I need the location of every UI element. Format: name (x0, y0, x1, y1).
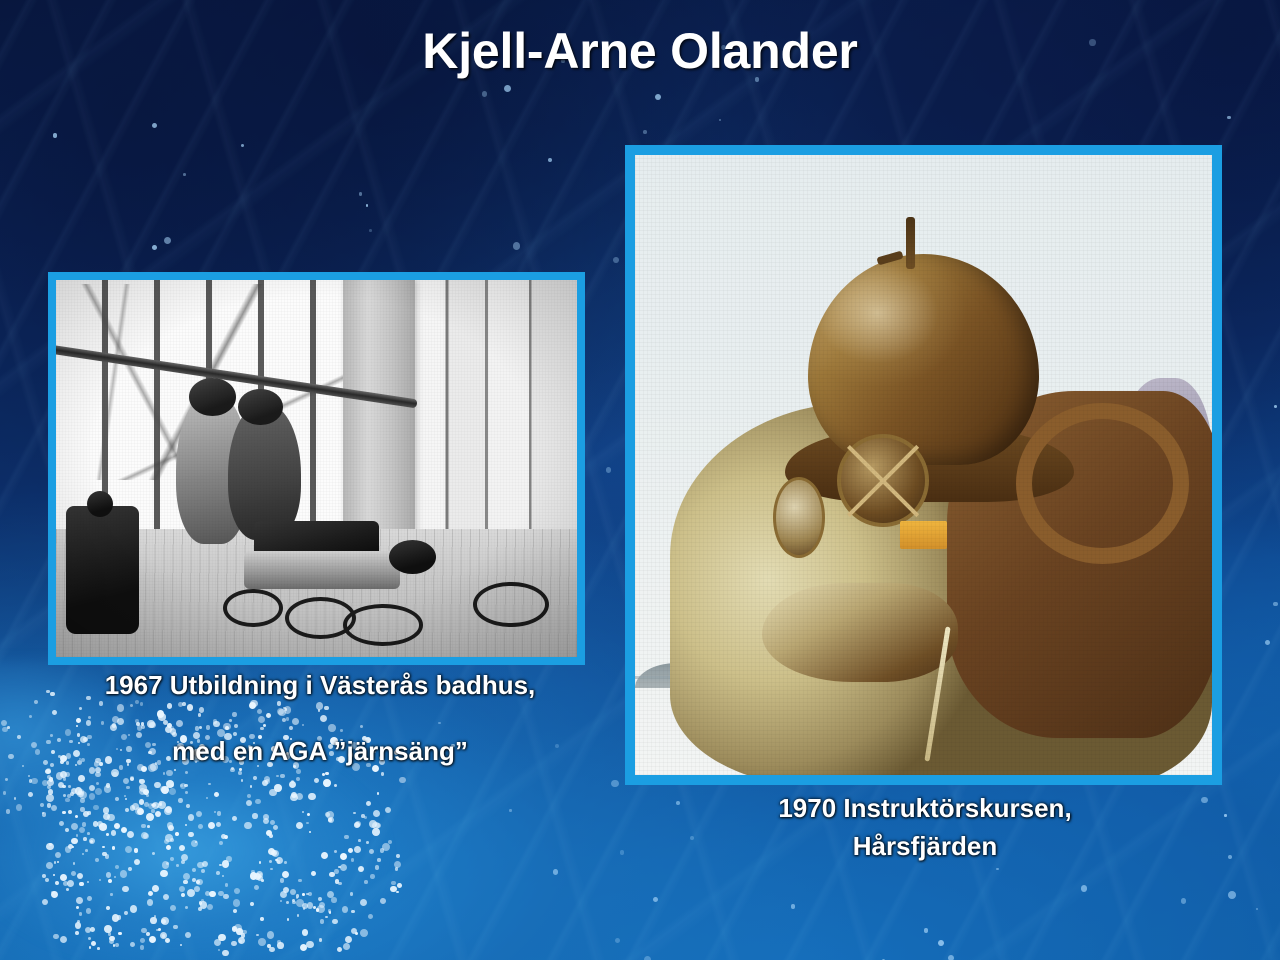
caption-left-line1: 1967 Utbildning i Västerås badhus, (105, 670, 536, 700)
caption-right-line1: 1970 Instruktörskursen, (778, 793, 1071, 823)
caption-right-photo: 1970 Instruktörskursen, Hårsfjärden (640, 795, 1210, 859)
photo-vignette-left (56, 280, 577, 657)
caption-left-line2: med en AGA ”järnsäng” (40, 738, 600, 764)
page-title: Kjell-Arne Olander (0, 22, 1280, 80)
right-photo (635, 155, 1212, 775)
left-photo (56, 280, 577, 657)
photo-frame-right (625, 145, 1222, 785)
photo-grain-right (635, 155, 1212, 775)
photo-frame-left (48, 272, 585, 665)
caption-left-photo: 1967 Utbildning i Västerås badhus, med e… (40, 672, 600, 764)
caption-right-line2: Hårsfjärden (640, 833, 1210, 859)
slide-canvas: Kjell-Arne Olander (0, 0, 1280, 960)
